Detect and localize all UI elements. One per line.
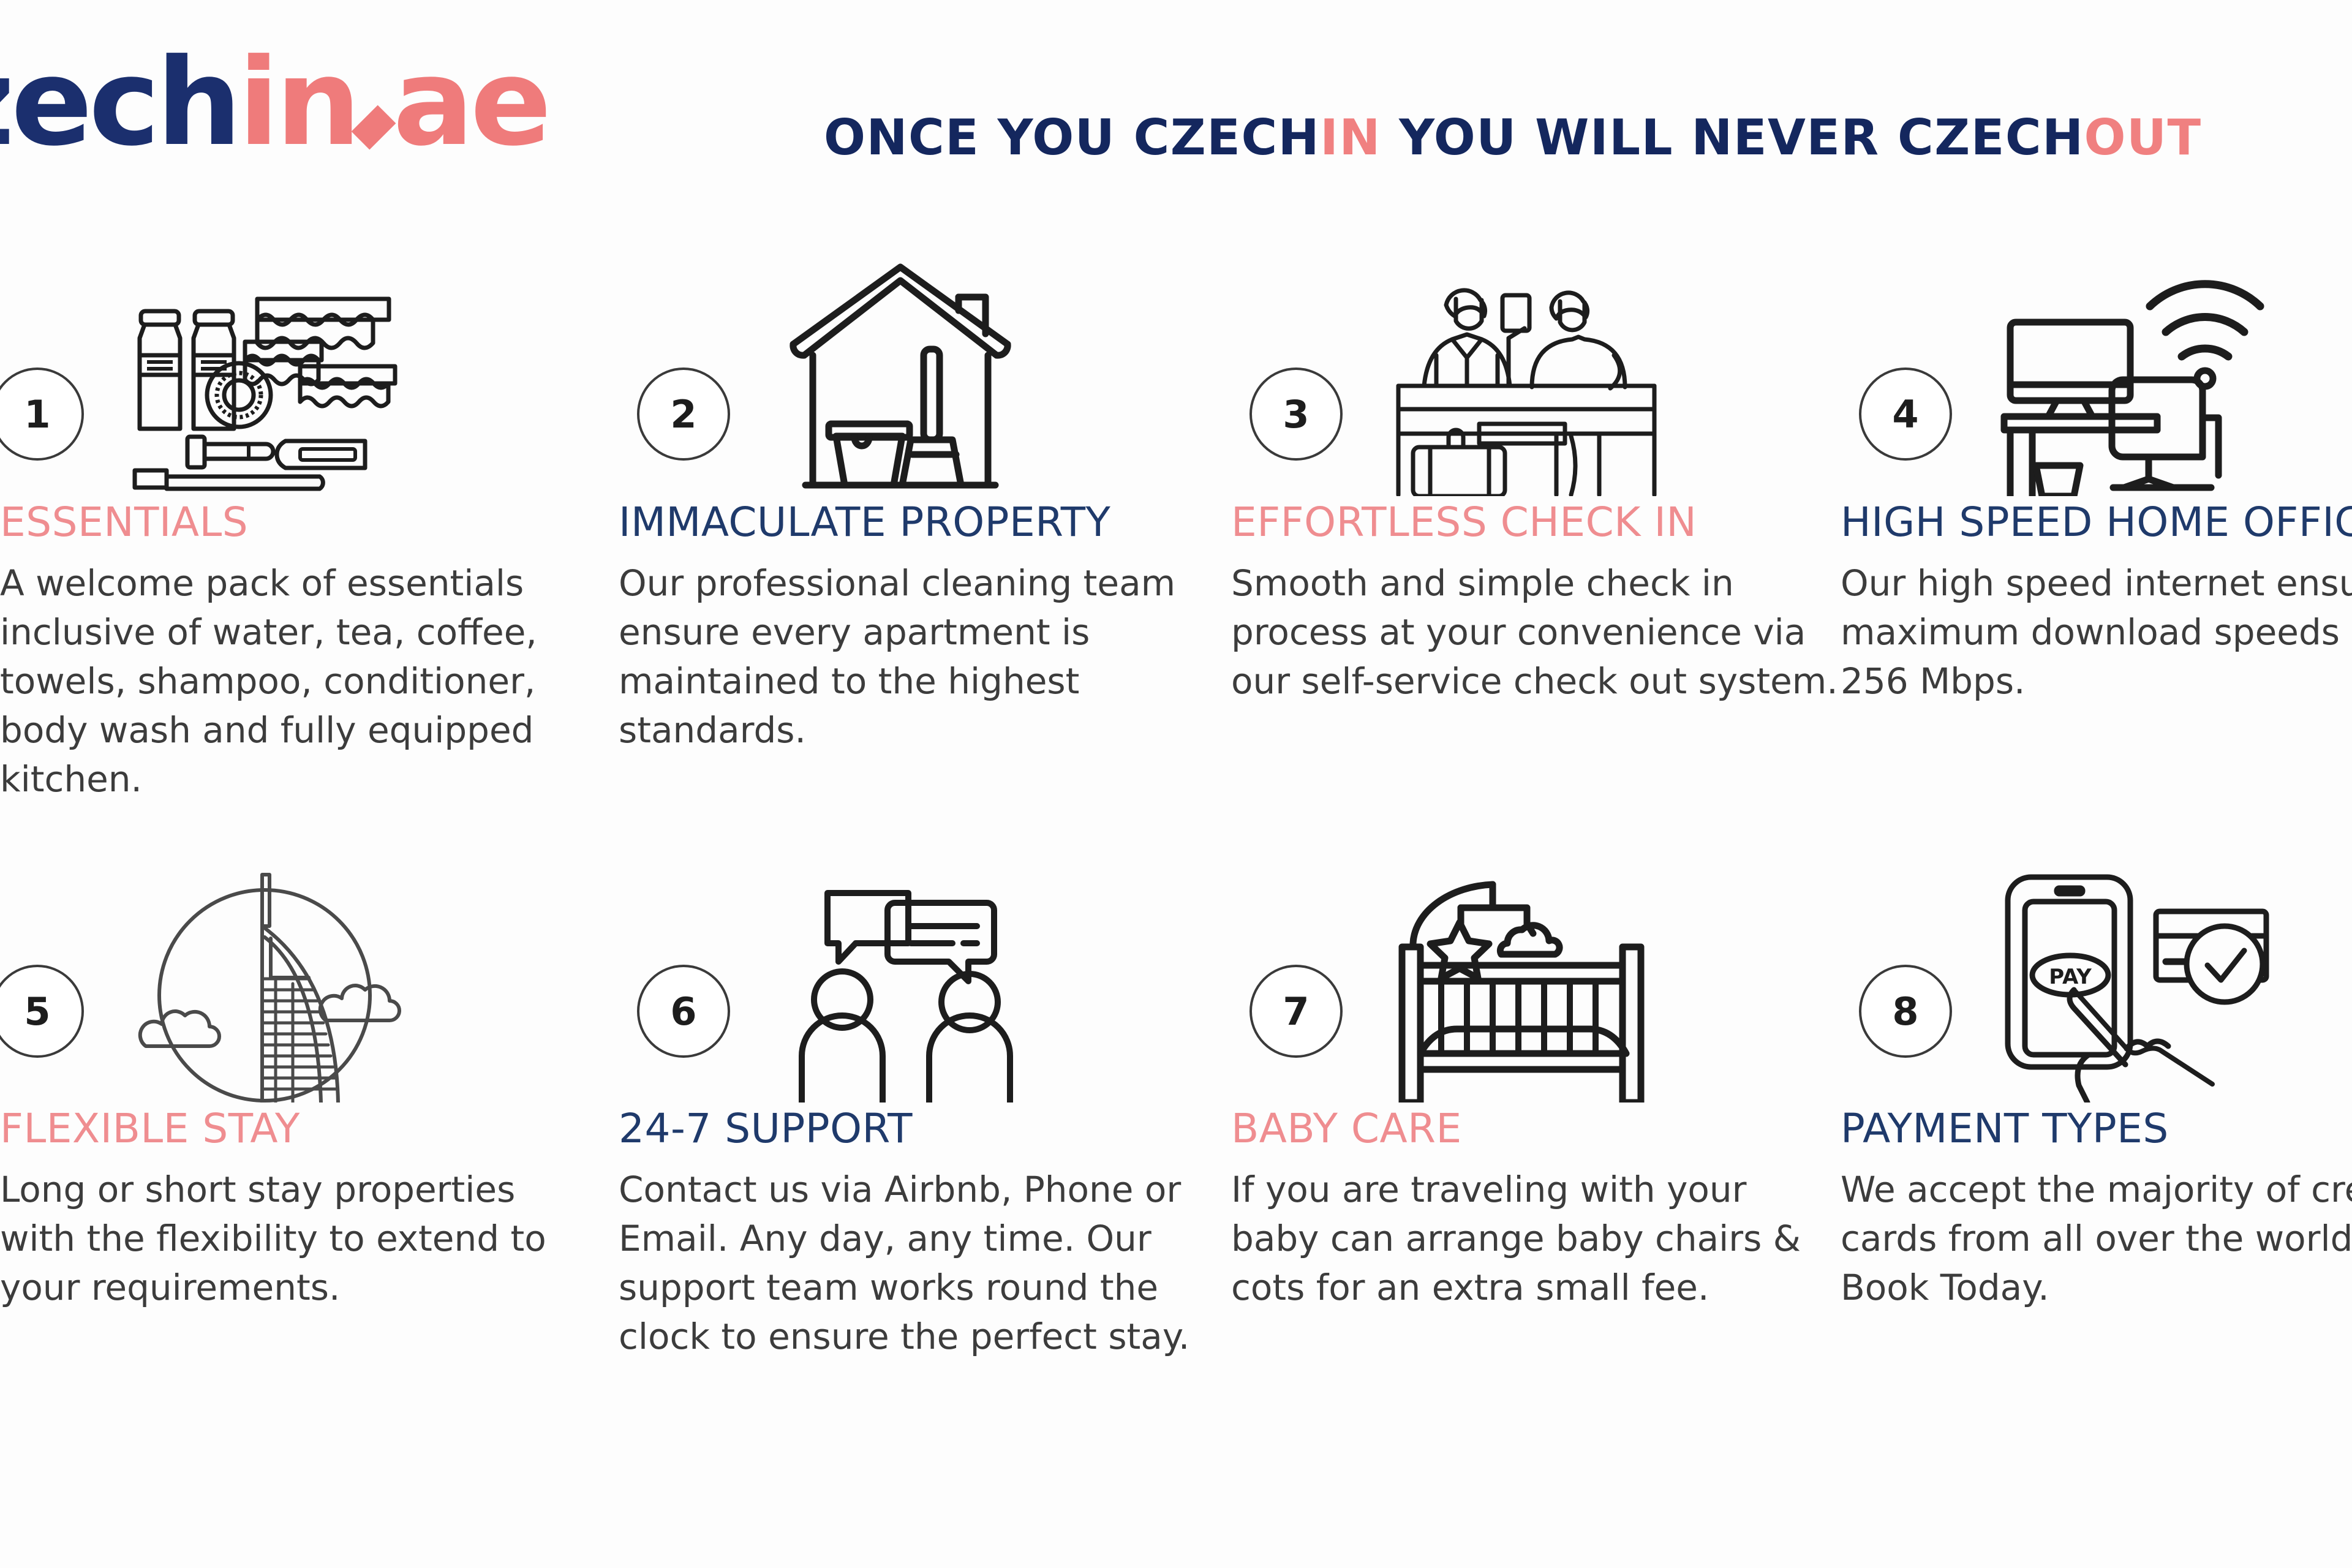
feature-icon-row: 5 (0, 864, 588, 1109)
step-number-badge: 3 (1249, 367, 1343, 461)
feature-title: BABY CARE (1231, 1109, 1847, 1149)
feature-card-24-7-support: 6 (619, 864, 1234, 1361)
feature-icon-row: 2 (619, 257, 1234, 502)
reception-desk-icon (1387, 263, 1675, 496)
feature-card-essentials: 1 (0, 257, 588, 804)
feature-card-effortless-check-in: 3 (1231, 257, 1847, 706)
burj-al-arab-icon (129, 870, 417, 1102)
house-cleaning-icon (775, 263, 1063, 496)
feature-card-immaculate-property: 2 (619, 257, 1234, 755)
feature-body: Long or short stay properties with the f… (0, 1165, 551, 1312)
desk-wifi-icon (1997, 263, 2285, 496)
feature-text: HIGH SPEED HOME OFFICE Our high speed in… (1841, 502, 2352, 706)
step-number-badge: 4 (1859, 367, 1952, 461)
feature-text: BABY CARE If you are traveling with your… (1231, 1109, 1847, 1312)
tagline-part-2: YOU WILL NEVER CZECH (1381, 109, 2084, 166)
feature-body: Contact us via Airbnb, Phone or Email. A… (619, 1165, 1231, 1361)
step-number-badge: 7 (1249, 965, 1343, 1058)
logo-diamond-dot-icon (352, 105, 396, 150)
feature-text: FLEXIBLE STAY Long or short stay propert… (0, 1109, 588, 1312)
feature-title: ESSENTIALS (0, 502, 588, 543)
feature-body: Our professional cleaning team ensure ev… (619, 559, 1231, 755)
logo-text-tld: ae (393, 33, 548, 173)
feature-text: ESSENTIALS A welcome pack of essentials … (0, 502, 588, 804)
step-number-badge: 6 (637, 965, 730, 1058)
feature-body: Our high speed internet ensures maximum … (1841, 559, 2352, 706)
features-grid: 1 (0, 257, 2352, 1470)
page-header: zechinae ONCE YOU CZECHIN YOU WILL NEVER… (0, 0, 2352, 202)
toiletries-icon (129, 263, 417, 496)
feature-title: HIGH SPEED HOME OFFICE (1841, 502, 2352, 543)
feature-text: EFFORTLESS CHECK IN Smooth and simple ch… (1231, 502, 1847, 706)
feature-icon-row: 3 (1231, 257, 1847, 502)
step-number-badge: 8 (1859, 965, 1952, 1058)
step-number-badge: 2 (637, 367, 730, 461)
brand-tagline: ONCE YOU CZECHIN YOU WILL NEVER CZECHOUT (824, 113, 2202, 162)
feature-icon-row: 4 (1841, 257, 2352, 502)
feature-title: IMMACULATE PROPERTY (619, 502, 1234, 543)
feature-card-flexible-stay: 5 (0, 864, 588, 1312)
tagline-accent-out: OUT (2084, 109, 2202, 166)
tagline-accent-in: IN (1320, 109, 1381, 166)
feature-icon-row: 7 (1231, 864, 1847, 1109)
feature-card-baby-care: 7 (1231, 864, 1847, 1312)
feature-body: We accept the majority of credit cards f… (1841, 1165, 2352, 1312)
brand-logo: zechinae (0, 43, 548, 163)
feature-card-payment-types: 8 PAY (1841, 864, 2352, 1312)
feature-card-high-speed-home-office: 4 (1841, 257, 2352, 706)
step-number-badge: 1 (0, 367, 84, 461)
feature-icon-row: 6 (619, 864, 1234, 1109)
feature-title: 24-7 SUPPORT (619, 1109, 1234, 1149)
feature-body: If you are traveling with your baby can … (1231, 1165, 1844, 1312)
feature-title: FLEXIBLE STAY (0, 1109, 588, 1149)
features-row-1: 1 (0, 257, 2352, 864)
infographic-page: zechinae ONCE YOU CZECHIN YOU WILL NEVER… (0, 0, 2352, 1568)
feature-title: PAYMENT TYPES (1841, 1109, 2352, 1149)
step-number-badge: 5 (0, 965, 84, 1058)
pay-button-label: PAY (2049, 965, 2092, 989)
feature-title: EFFORTLESS CHECK IN (1231, 502, 1847, 543)
feature-text: 24-7 SUPPORT Contact us via Airbnb, Phon… (619, 1109, 1234, 1361)
tagline-part-1: ONCE YOU CZECH (824, 109, 1320, 166)
logo-text-coral: in (238, 33, 358, 173)
feature-text: IMMACULATE PROPERTY Our professional cle… (619, 502, 1234, 755)
feature-text: PAYMENT TYPES We accept the majority of … (1841, 1109, 2352, 1312)
feature-body: Smooth and simple check in process at yo… (1231, 559, 1844, 706)
feature-body: A welcome pack of essentials inclusive o… (0, 559, 551, 804)
feature-icon-row: 1 (0, 257, 588, 502)
people-chat-icon (775, 870, 1063, 1102)
baby-crib-icon (1387, 870, 1675, 1102)
feature-icon-row: 8 PAY (1841, 864, 2352, 1109)
logo-text-navy: zech (0, 33, 238, 173)
mobile-pay-icon: PAY (1997, 870, 2285, 1102)
features-row-2: 5 (0, 864, 2352, 1470)
